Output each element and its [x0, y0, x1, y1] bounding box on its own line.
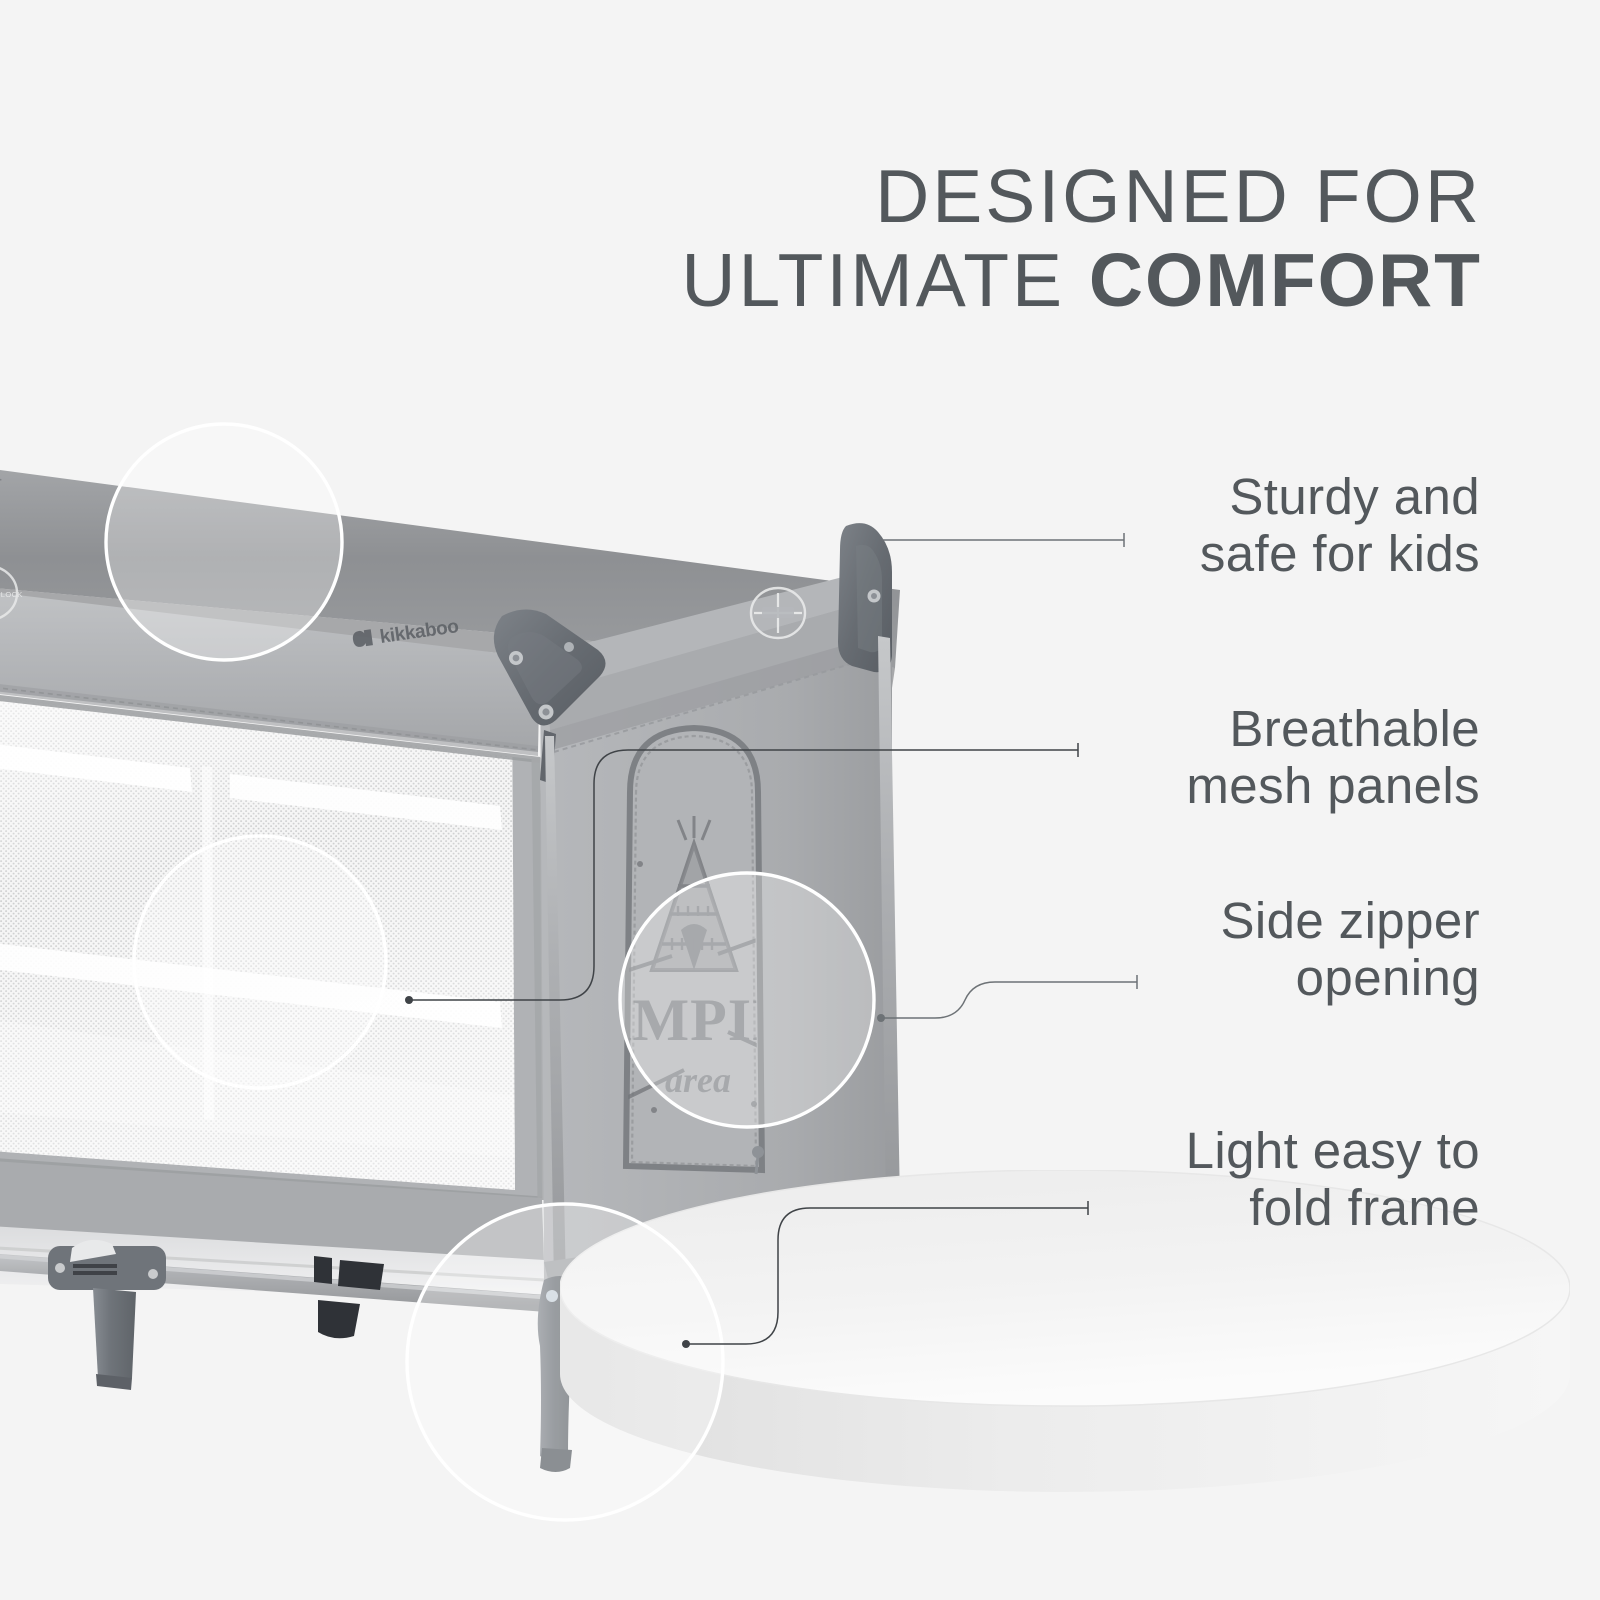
svg-text:area: area — [665, 1060, 731, 1100]
feature-fold-line-2: fold frame — [1186, 1179, 1480, 1236]
feature-sturdy-line-2: safe for kids — [1200, 525, 1480, 582]
leader-line-fold — [680, 1180, 1100, 1370]
feature-fold-line-1: Light easy to — [1186, 1122, 1480, 1179]
feature-label-zipper: Side zipper opening — [1220, 892, 1480, 1006]
page-title: DESIGNED FOR ULTIMATE COMFORT — [681, 160, 1482, 317]
headline-line-2: ULTIMATE COMFORT — [681, 244, 1482, 318]
headline-line-2-bold: COMFORT — [1089, 238, 1482, 322]
infographic-canvas: PULL TO UNLOCK — [0, 0, 1600, 1600]
center-fold-handle — [48, 1240, 166, 1390]
feature-label-mesh: Breathable mesh panels — [1186, 700, 1480, 814]
feature-mesh-line-2: mesh panels — [1186, 757, 1480, 814]
feature-zipper-line-1: Side zipper — [1220, 892, 1480, 949]
svg-text:PULL TO UNLOCK: PULL TO UNLOCK — [0, 590, 23, 599]
feature-label-fold: Light easy to fold frame — [1186, 1122, 1480, 1236]
feature-sturdy-line-1: Sturdy and — [1200, 468, 1480, 525]
headline-line-2-light: ULTIMATE — [681, 238, 1089, 322]
headline-line-1: DESIGNED FOR — [681, 160, 1482, 234]
feature-label-sturdy: Sturdy and safe for kids — [1200, 468, 1480, 582]
feature-mesh-line-1: Breathable — [1186, 700, 1480, 757]
feature-zipper-line-2: opening — [1220, 949, 1480, 1006]
leader-line-zipper — [875, 940, 1145, 1030]
leader-line-sturdy — [880, 520, 1140, 560]
rail-lock-badge-right — [751, 588, 805, 638]
